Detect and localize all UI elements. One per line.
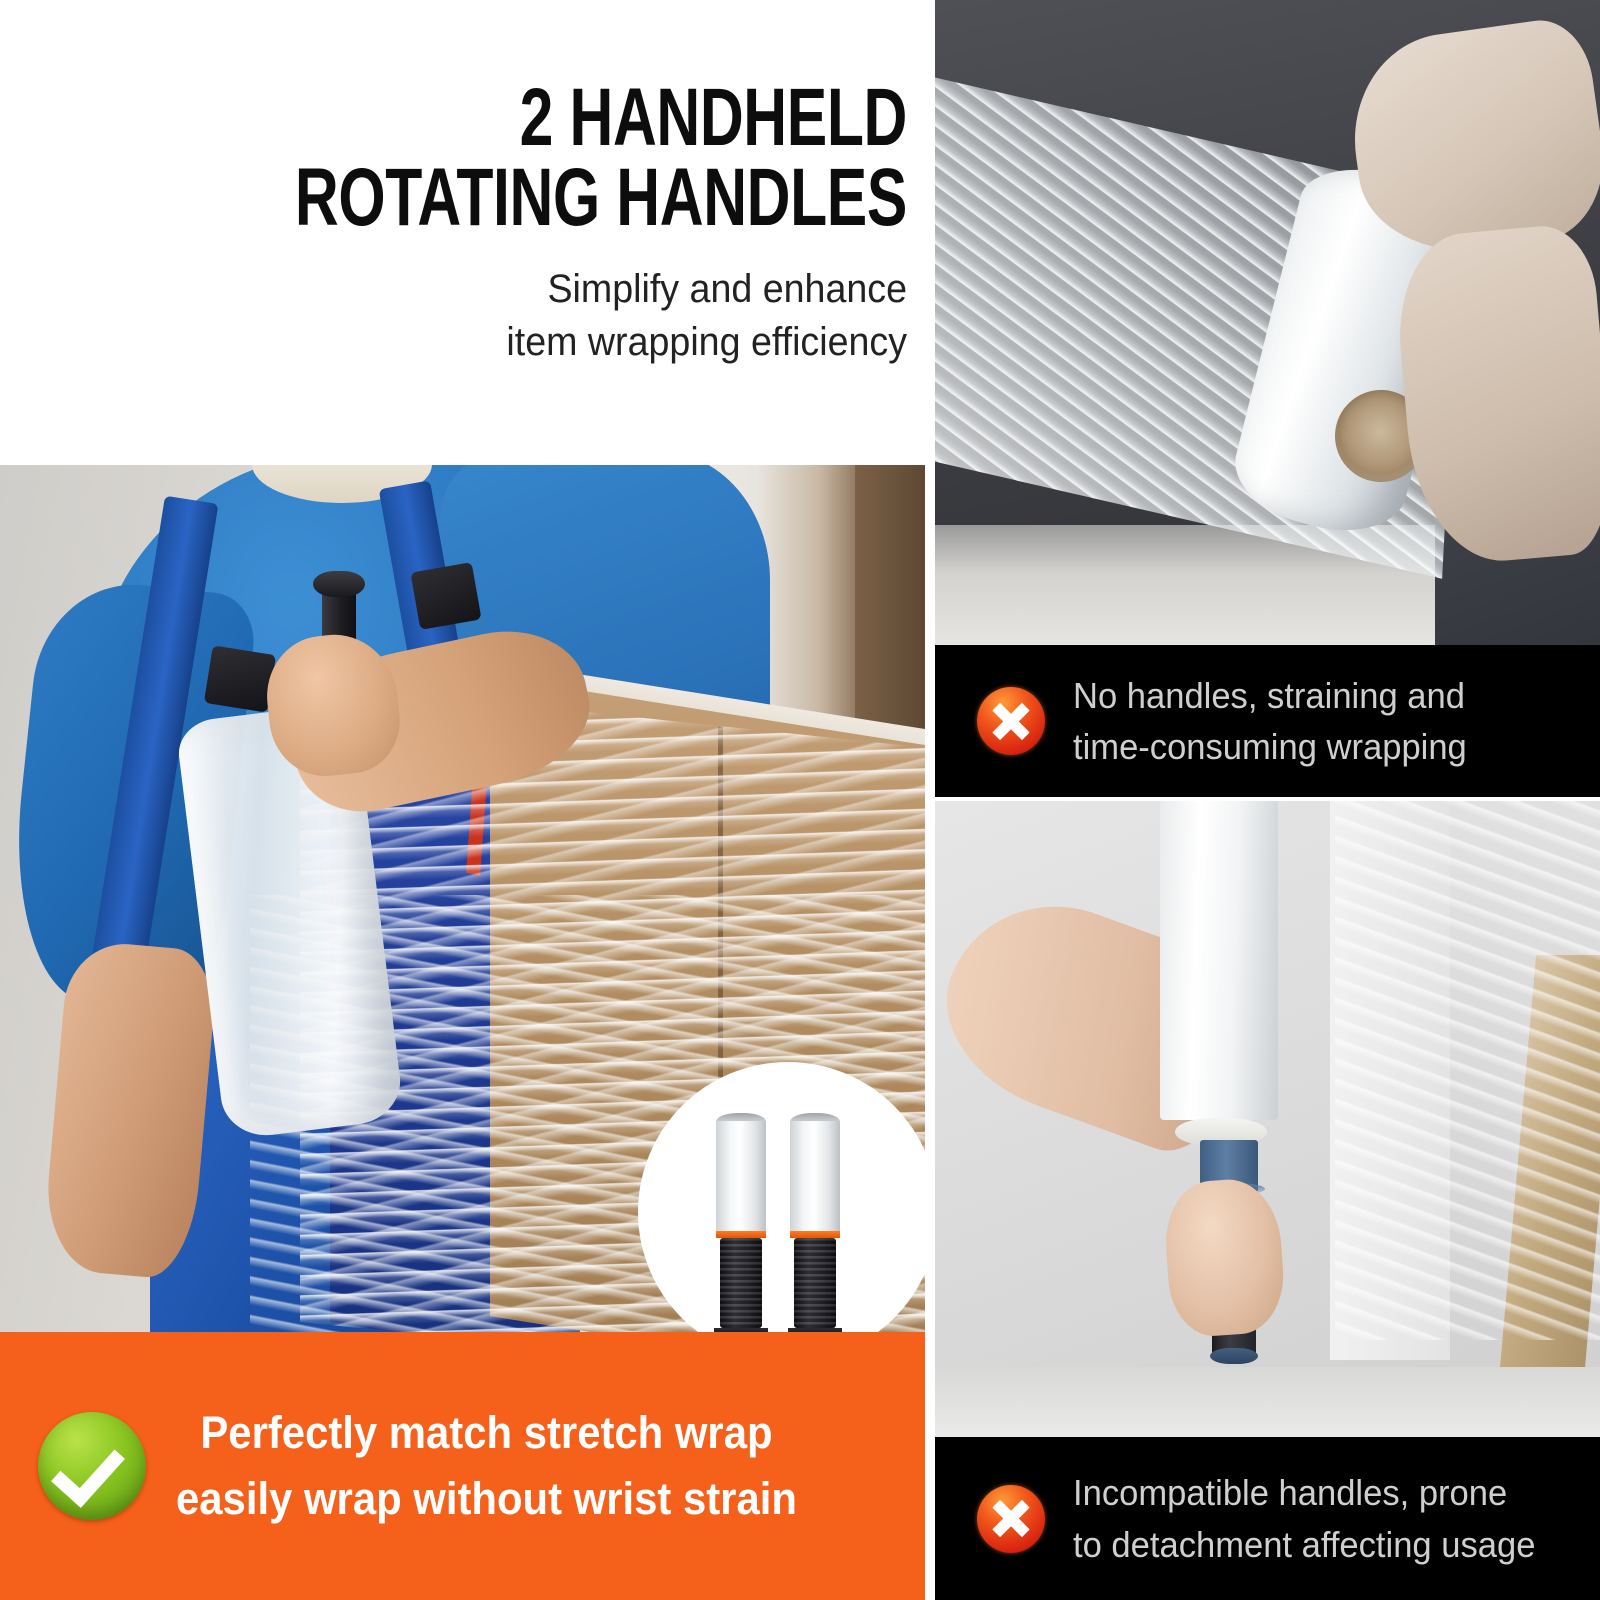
con-caption-top: No handles, straining and time-consuming…	[935, 645, 1600, 797]
con-caption-top-line-2: time-consuming wrapping	[1073, 721, 1467, 772]
con-caption-top-text: No handles, straining and time-consuming…	[1073, 670, 1467, 772]
floor-background	[935, 1367, 1600, 1437]
right-column-divider	[935, 797, 1600, 801]
product-handle-2	[790, 1113, 840, 1340]
subtitle-line-1: Simplify and enhance	[54, 263, 907, 316]
handle-end-cap	[1210, 1348, 1258, 1364]
red-x-icon	[977, 1485, 1045, 1553]
left-column: 2 HANDHELD ROTATING HANDLES Simplify and…	[0, 0, 925, 1600]
person-hand-gripping	[1162, 1176, 1288, 1339]
headline-line-1: 2 HANDHELD	[520, 72, 907, 163]
page-title: 2 HANDHELD ROTATING HANDLES	[236, 0, 907, 239]
subtitle-line-2: item wrapping efficiency	[54, 316, 907, 369]
handle-ribbed-grip	[794, 1238, 836, 1328]
wall-panel	[1330, 800, 1450, 1360]
con-caption-top-line-1: No handles, straining and	[1073, 670, 1467, 721]
handle-knob	[313, 571, 365, 597]
pro-banner-line-1: Perfectly match stretch wrap	[176, 1400, 797, 1466]
con-caption-bottom-line-1: Incompatible handles, prone	[1073, 1467, 1535, 1518]
handle-tube	[716, 1121, 766, 1231]
red-x-icon	[977, 687, 1045, 755]
subtitle: Simplify and enhance item wrapping effic…	[54, 239, 907, 369]
headline-block: 2 HANDHELD ROTATING HANDLES Simplify and…	[0, 0, 925, 465]
handle-orange-band	[716, 1231, 766, 1238]
comparison-photo-no-handles	[935, 0, 1600, 645]
con-caption-bottom: Incompatible handles, prone to detachmen…	[935, 1437, 1600, 1600]
handle-ribbed-grip	[720, 1238, 762, 1328]
handle-orange-band	[790, 1231, 840, 1238]
con-caption-bottom-line-2: to detachment affecting usage	[1073, 1519, 1535, 1570]
white-film-roll	[1160, 800, 1278, 1120]
product-inset-circle	[638, 1062, 925, 1362]
green-check-icon	[38, 1412, 146, 1520]
product-handle-1	[716, 1113, 766, 1340]
headline-line-2: ROTATING HANDLES	[236, 158, 907, 238]
pro-banner-text: Perfectly match stretch wrap easily wrap…	[176, 1400, 797, 1531]
product-infographic: 2 HANDHELD ROTATING HANDLES Simplify and…	[0, 0, 1600, 1600]
pro-banner: Perfectly match stretch wrap easily wrap…	[0, 1332, 925, 1600]
strap-buckle-left	[204, 645, 276, 712]
column-divider	[925, 0, 935, 1600]
strap-buckle-right	[410, 562, 481, 630]
con-caption-bottom-text: Incompatible handles, prone to detachmen…	[1073, 1467, 1535, 1569]
comparison-photo-incompatible-handle	[935, 800, 1600, 1437]
wooden-furniture-leg	[1494, 955, 1600, 1437]
pro-banner-line-2: easily wrap without wrist strain	[176, 1466, 797, 1532]
handle-tube	[790, 1121, 840, 1231]
